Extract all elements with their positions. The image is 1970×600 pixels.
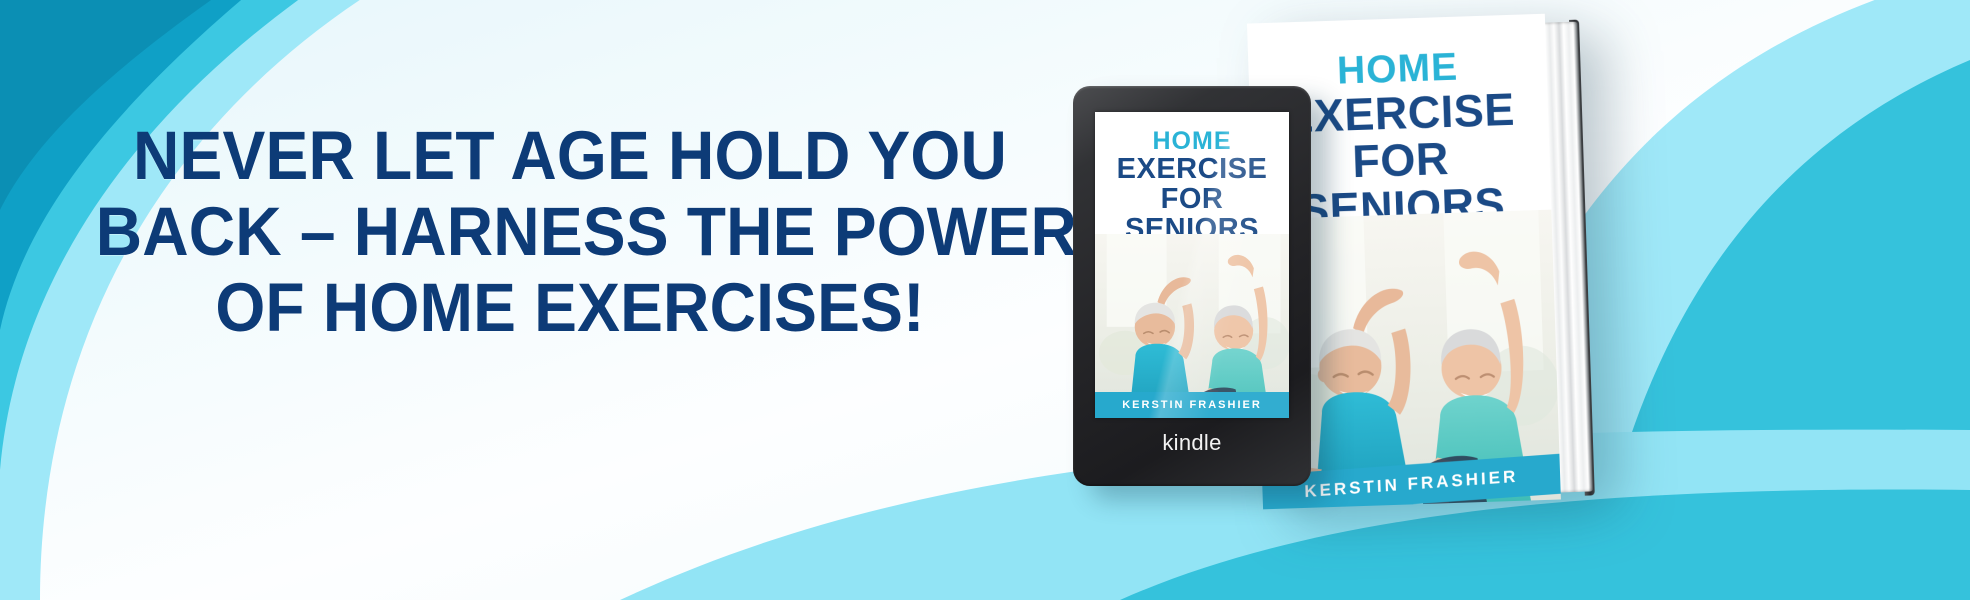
kindle-cover-photo-illustration xyxy=(1095,234,1289,418)
kindle-cover-art: HOME EXERCISE FOR SENIORS A Miraculous a… xyxy=(1095,112,1289,418)
promo-banner: NEVER LET AGE HOLD YOU BACK – HARNESS TH… xyxy=(0,0,1970,600)
kindle-screen: HOME EXERCISE FOR SENIORS A Miraculous a… xyxy=(1095,112,1289,418)
kindle-device: HOME EXERCISE FOR SENIORS A Miraculous a… xyxy=(1073,86,1311,486)
kindle-wordmark: kindle xyxy=(1073,430,1311,456)
headline-line-2: BACK – HARNESS THE POWER xyxy=(96,194,1045,270)
kindle-cover-author-name: KERSTIN FRASHIER xyxy=(1122,399,1262,411)
cover-author-name: KERSTIN FRASHIER xyxy=(1304,467,1518,501)
kindle-cover-title-home: HOME xyxy=(1095,128,1289,154)
headline-line-1: NEVER LET AGE HOLD YOU xyxy=(96,118,1045,194)
headline: NEVER LET AGE HOLD YOU BACK – HARNESS TH… xyxy=(96,118,1045,346)
kindle-cover-photo xyxy=(1095,234,1289,418)
product-group: HOME EXERCISE FOR SENIORS A Miraculous a… xyxy=(1060,0,1970,600)
headline-line-3: OF HOME EXERCISES! xyxy=(96,270,1045,346)
kindle-cover-title-exercise: EXERCISE xyxy=(1095,154,1289,184)
kindle-cover-author-band: KERSTIN FRASHIER xyxy=(1095,392,1289,418)
